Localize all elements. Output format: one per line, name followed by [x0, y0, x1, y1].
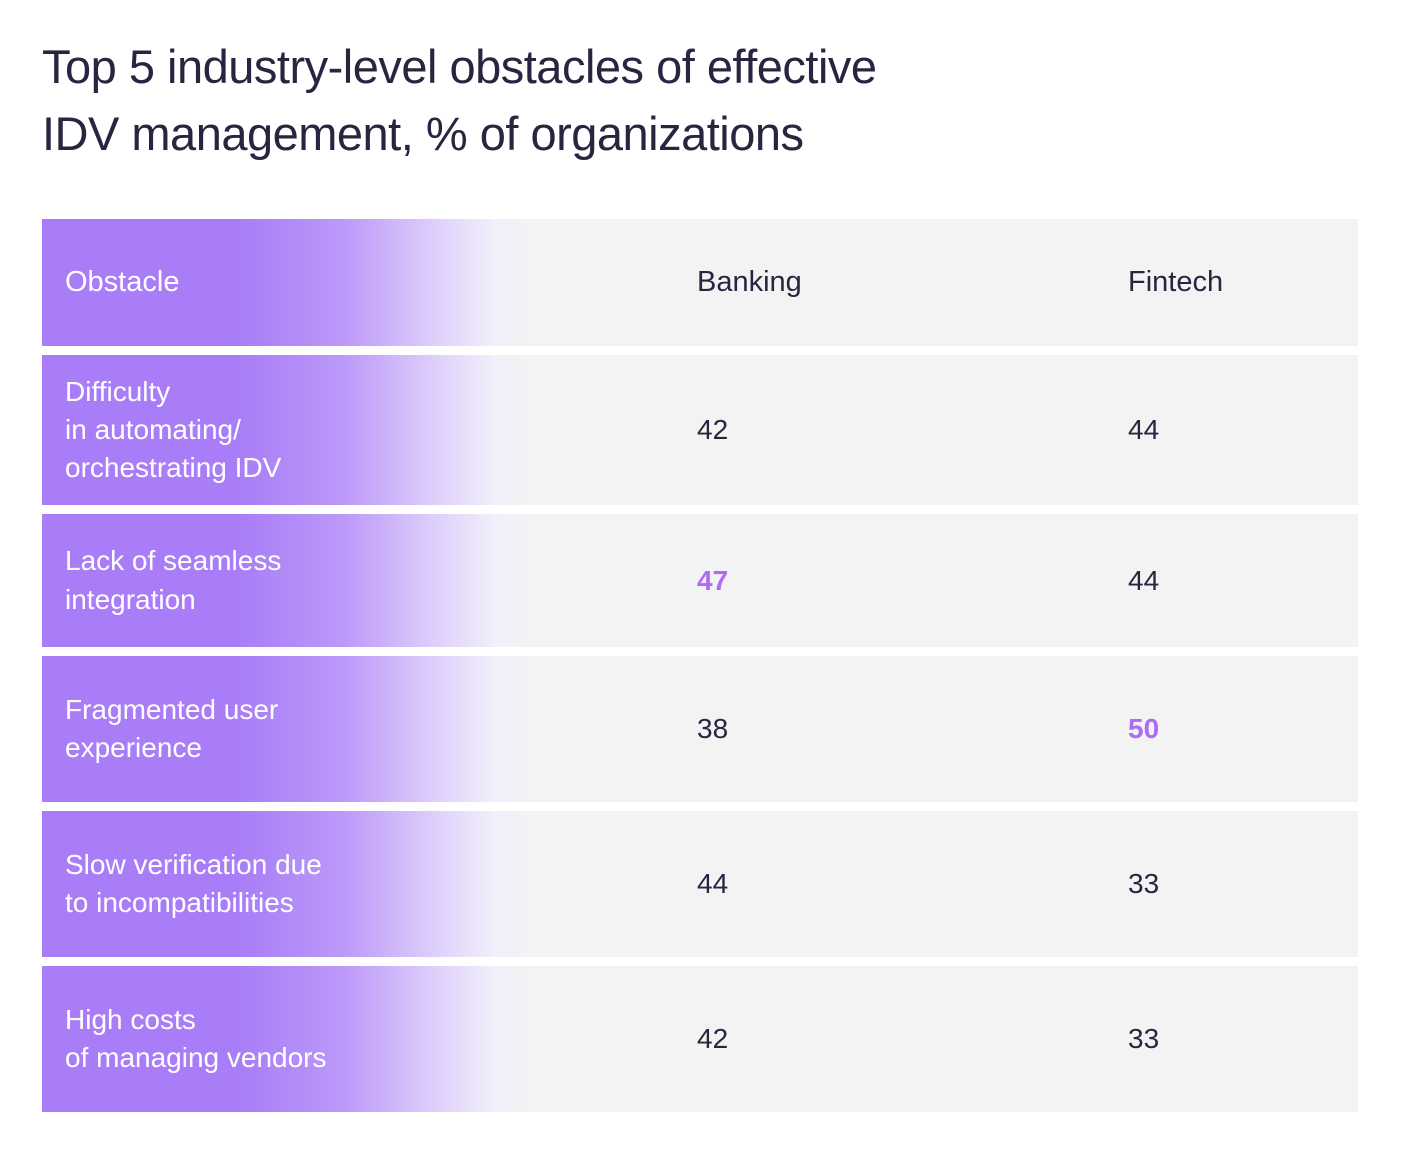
banking-value: 47 [529, 564, 965, 598]
obstacle-label: High costs of managing vendors [42, 1001, 529, 1077]
page-title: Top 5 industry-level obstacles of effect… [42, 33, 1242, 167]
banking-value: 42 [529, 413, 965, 447]
fintech-value: 50 [965, 712, 1358, 746]
obstacle-label: Slow verification due to incompatibiliti… [42, 846, 529, 922]
banking-value: 42 [529, 1022, 965, 1056]
column-header-banking: Banking [529, 265, 965, 300]
column-header-fintech: Fintech [965, 265, 1358, 300]
obstacles-table: Obstacle Banking Fintech Difficulty in a… [42, 219, 1358, 1112]
column-header-obstacle: Obstacle [42, 263, 529, 302]
banking-value: 38 [529, 712, 965, 746]
fintech-value: 33 [965, 867, 1358, 901]
banking-value: 44 [529, 867, 965, 901]
table-row: Lack of seamless integration 47 44 [42, 514, 1358, 647]
table-header-row: Obstacle Banking Fintech [42, 219, 1358, 346]
table-row: Fragmented user experience 38 50 [42, 656, 1358, 802]
table-row: Difficulty in automating/ orchestrating … [42, 355, 1358, 505]
obstacle-label: Lack of seamless integration [42, 542, 529, 618]
fintech-value: 33 [965, 1022, 1358, 1056]
fintech-value: 44 [965, 413, 1358, 447]
chart-page: Top 5 industry-level obstacles of effect… [0, 0, 1401, 1152]
obstacle-label: Fragmented user experience [42, 691, 529, 767]
fintech-value: 44 [965, 564, 1358, 598]
obstacle-label: Difficulty in automating/ orchestrating … [42, 373, 529, 487]
table-row: Slow verification due to incompatibiliti… [42, 811, 1358, 957]
table-row: High costs of managing vendors 42 33 [42, 966, 1358, 1112]
